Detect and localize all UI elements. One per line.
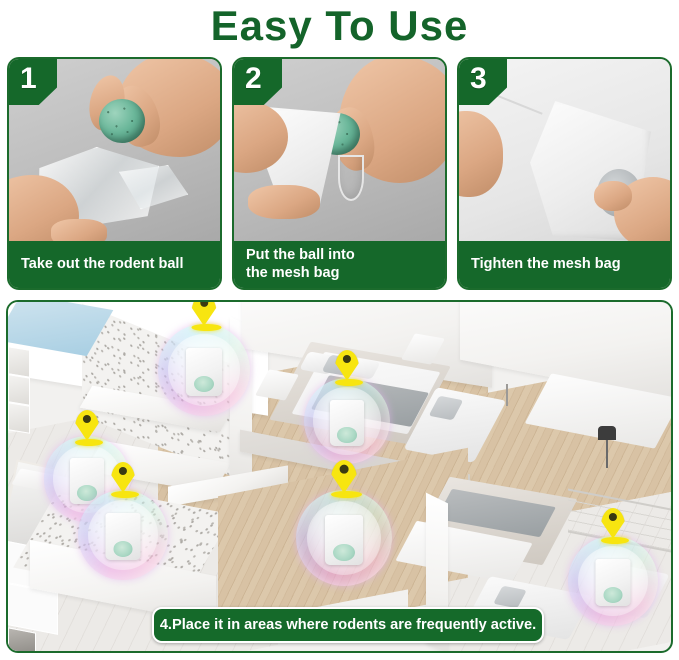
- product-orb: [296, 490, 392, 586]
- location-pin-icon: [331, 460, 357, 498]
- step-caption-3-line1: Tighten the mesh bag: [471, 256, 658, 273]
- location-pin-icon: [192, 302, 217, 331]
- finger-right: [594, 181, 632, 211]
- pin-base: [335, 379, 363, 386]
- mesh-bag-in-orb: [330, 400, 364, 446]
- marker-living-room[interactable]: [296, 460, 392, 586]
- pin-base: [75, 439, 103, 446]
- step-caption-1-line1: Take out the rodent ball: [21, 256, 208, 273]
- location-pin-icon: [601, 508, 625, 544]
- step-card-3: 3 Tighten the mesh bag: [457, 57, 672, 290]
- pin-base: [111, 491, 139, 498]
- step-number-2: 2: [234, 59, 262, 99]
- location-pin-icon: [335, 350, 359, 386]
- mesh-bag-in-orb: [186, 348, 222, 396]
- step-caption-3: Tighten the mesh bag: [459, 241, 670, 288]
- wall-art-2: [8, 374, 30, 405]
- tall-floor-lamp-pole: [606, 440, 608, 468]
- marker-master-bedroom[interactable]: [304, 350, 390, 464]
- floorplan-caption: 4.Place it in areas where rodents are fr…: [152, 607, 544, 643]
- pin-head: [601, 508, 625, 539]
- mesh-bag-in-orb: [106, 513, 141, 560]
- mesh-bag-in-orb: [325, 515, 363, 565]
- floor-lamp-stand: [506, 384, 508, 406]
- product-orb: [304, 378, 390, 464]
- pin-base: [601, 537, 629, 544]
- page-title: Easy To Use: [0, 0, 679, 52]
- wall-art-1: [8, 346, 30, 377]
- location-pin-icon: [111, 462, 135, 498]
- mesh-bag-in-orb: [596, 559, 631, 606]
- finger-left-lower: [248, 185, 320, 219]
- step-card-2: 2 Put the ball into the mesh bag: [232, 57, 447, 290]
- step-number-1: 1: [9, 59, 37, 99]
- pin-head: [335, 350, 359, 381]
- steps-row: 1 Take out the rodent ball 2: [7, 57, 672, 290]
- marker-bathtub[interactable]: [158, 302, 250, 416]
- marker-kitchen[interactable]: [78, 462, 168, 580]
- pin-base: [192, 324, 222, 331]
- product-orb: [78, 490, 168, 580]
- step-number-3: 3: [459, 59, 487, 99]
- pin-head: [75, 410, 99, 441]
- product-orb: [158, 324, 250, 416]
- step-card-1: 1 Take out the rodent ball: [7, 57, 222, 290]
- tall-floor-lamp: [598, 426, 616, 440]
- rodent-ball: [99, 99, 145, 143]
- pin-head: [331, 460, 357, 493]
- floorplan-scene: [8, 302, 671, 651]
- marker-balcony[interactable]: [568, 508, 658, 626]
- mesh-bag-drawstring: [338, 155, 364, 201]
- step-caption-2-line2: the mesh bag: [246, 265, 433, 283]
- pin-head: [192, 302, 217, 326]
- pin-head: [111, 462, 135, 493]
- wall-art-3: [8, 402, 30, 433]
- step-caption-2-line1: Put the ball into: [246, 247, 433, 265]
- step-caption-1: Take out the rodent ball: [9, 241, 220, 288]
- product-orb: [568, 536, 658, 626]
- step-caption-2: Put the ball into the mesh bag: [234, 241, 445, 288]
- floorplan-panel: 4.Place it in areas where rodents are fr…: [6, 300, 673, 653]
- location-pin-icon: [75, 410, 99, 446]
